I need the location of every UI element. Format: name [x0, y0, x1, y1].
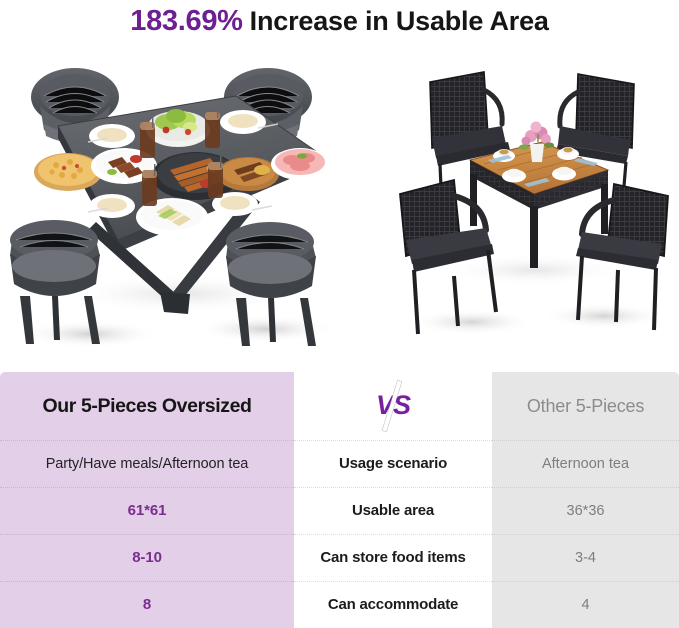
cell-ours-value: 8 [0, 581, 294, 628]
cell-attribute-label: Usable area [294, 487, 492, 534]
attribute-label-text: Usable area [352, 502, 434, 519]
comparison-header-row: Our 5-Pieces Oversized VS Other 5-Pieces [0, 372, 679, 440]
cell-theirs-value: 3-4 [492, 534, 679, 581]
cell-ours-value: Party/Have meals/Afternoon tea [0, 440, 294, 487]
cell-attribute-label: Can accommodate [294, 581, 492, 628]
page-title-text: Increase in Usable Area [250, 6, 549, 37]
photo-other-smaller-set [392, 44, 679, 368]
header-cell-ours: Our 5-Pieces Oversized [0, 372, 294, 440]
theirs-value-text: 36*36 [567, 503, 605, 519]
product-comparison-infographic: 183.69% Increase in Usable Area [0, 0, 679, 628]
header-cell-vs: VS [294, 372, 492, 440]
table-row: Party/Have meals/Afternoon tea Usage sce… [0, 440, 679, 487]
ours-value-text: 8 [143, 596, 151, 613]
vs-badge: VS [364, 382, 422, 430]
ours-value-text: Party/Have meals/Afternoon tea [46, 456, 249, 472]
header-ours-label: Our 5-Pieces Oversized [42, 395, 251, 418]
comparison-table: Our 5-Pieces Oversized VS Other 5-Pieces… [0, 372, 679, 628]
theirs-value-text: Afternoon tea [542, 456, 629, 472]
cell-attribute-label: Can store food items [294, 534, 492, 581]
theirs-value-text: 3-4 [575, 550, 596, 566]
header-theirs-label: Other 5-Pieces [527, 396, 644, 417]
attribute-label-text: Usage scenario [339, 455, 447, 472]
cell-theirs-value: 4 [492, 581, 679, 628]
attribute-label-text: Can accommodate [328, 596, 458, 613]
photo-our-oversized-set [0, 44, 350, 368]
ours-value-text: 61*61 [128, 502, 167, 519]
cell-theirs-value: Afternoon tea [492, 440, 679, 487]
food-wood-board [217, 157, 279, 191]
food-sliced-meat-plate [271, 148, 329, 180]
header-cell-theirs: Other 5-Pieces [492, 372, 679, 440]
product-photo-band [0, 44, 679, 368]
cell-ours-value: 8-10 [0, 534, 294, 581]
food-pizza [34, 153, 102, 191]
table-row: 8-10 Can store food items 3-4 [0, 534, 679, 581]
theirs-value-text: 4 [581, 597, 589, 613]
table-row: 8 Can accommodate 4 [0, 581, 679, 628]
ours-value-text: 8-10 [132, 549, 162, 566]
cell-ours-value: 61*61 [0, 487, 294, 534]
table-row: 61*61 Usable area 36*36 [0, 487, 679, 534]
attribute-label-text: Can store food items [320, 549, 465, 566]
cell-theirs-value: 36*36 [492, 487, 679, 534]
cell-attribute-label: Usage scenario [294, 440, 492, 487]
percent-increase-value: 183.69% [130, 5, 242, 38]
page-title: 183.69% Increase in Usable Area [0, 0, 679, 42]
